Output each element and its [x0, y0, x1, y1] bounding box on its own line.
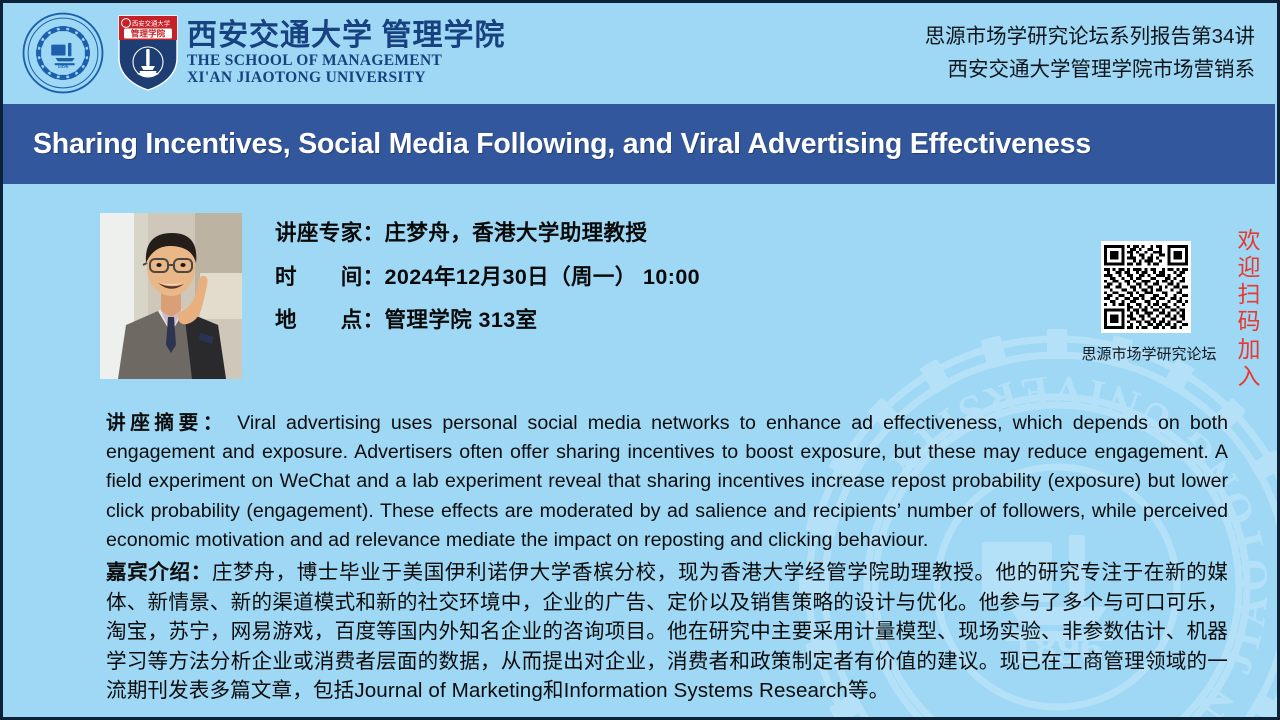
university-name-cn: 西安交通大学 管理学院 [187, 21, 506, 51]
place-value: 管理学院 313室 [385, 308, 538, 332]
scan-note-char-4: 码 [1236, 308, 1262, 335]
title-banner: Sharing Incentives, Social Media Followi… [3, 104, 1275, 184]
logo-group: 1896 西安交通大学 管理学院 [21, 11, 506, 95]
xjtu-round-seal-icon: 1896 [21, 11, 105, 95]
svg-text:管理学院: 管理学院 [131, 28, 166, 39]
speaker-label: 讲座专家： [275, 223, 385, 245]
svg-text:1896: 1896 [58, 64, 69, 70]
scan-note-char-6: 入 [1236, 363, 1262, 390]
speaker-value: 庄梦舟，香港大学助理教授 [385, 221, 648, 245]
abstract-text: Viral advertising uses personal social m… [106, 412, 1228, 551]
qr-code[interactable] [1101, 241, 1191, 333]
speaker-row: 讲座专家：庄梦舟，香港大学助理教授 [275, 223, 700, 245]
svg-text:西安交通大学: 西安交通大学 [132, 19, 171, 28]
seminar-poster: 1896 XI'AN JIAOTONG UNIVERSITY [0, 0, 1280, 720]
speaker-photo [100, 213, 242, 379]
school-of-management-shield-icon: 西安交通大学 管理学院 [117, 14, 179, 92]
school-name-en-line2: XI'AN JIAOTONG UNIVERSITY [187, 70, 506, 86]
page-title: Sharing Incentives, Social Media Followi… [3, 128, 1091, 161]
abstract-paragraph: 讲座摘要： Viral advertising uses personal so… [106, 409, 1228, 555]
bio-text: 庄梦舟，博士毕业于美国伊利诺伊大学香槟分校，现为香港大学经管学院助理教授。他的研… [106, 561, 1228, 702]
series-info: 思源市场学研究论坛系列报告第34讲 西安交通大学管理学院市场营销系 [925, 20, 1255, 86]
series-line-2: 西安交通大学管理学院市场营销系 [925, 53, 1255, 86]
scan-note-char-3: 扫 [1236, 281, 1262, 308]
poster-body: 讲座摘要： Viral advertising uses personal so… [106, 409, 1228, 709]
poster-header: 1896 西安交通大学 管理学院 [3, 3, 1277, 104]
event-details: 讲座专家：庄梦舟，香港大学助理教授 时 间：2024年12月30日（周一） 10… [275, 223, 700, 354]
scan-note-char-1: 欢 [1236, 227, 1262, 254]
abstract-label: 讲座摘要： [106, 412, 227, 434]
time-label: 时 间： [275, 267, 385, 289]
place-row: 地 点：管理学院 313室 [275, 310, 700, 332]
scan-note-char-2: 迎 [1236, 254, 1262, 281]
place-label: 地 点： [275, 310, 385, 332]
time-row: 时 间：2024年12月30日（周一） 10:00 [275, 267, 700, 289]
scan-to-join-note: 欢 迎 扫 码 加 入 [1236, 227, 1262, 390]
bio-label: 嘉宾介绍： [106, 561, 212, 584]
qr-caption: 思源市场学研究论坛 [1061, 343, 1237, 364]
bio-paragraph: 嘉宾介绍：庄梦舟，博士毕业于美国伊利诺伊大学香槟分校，现为香港大学经管学院助理教… [106, 558, 1228, 706]
school-name-en-line1: THE SCHOOL OF MANAGEMENT [187, 53, 506, 69]
scan-note-char-5: 加 [1236, 336, 1262, 363]
series-line-1: 思源市场学研究论坛系列报告第34讲 [925, 20, 1255, 53]
time-value: 2024年12月30日（周一） 10:00 [385, 265, 701, 289]
